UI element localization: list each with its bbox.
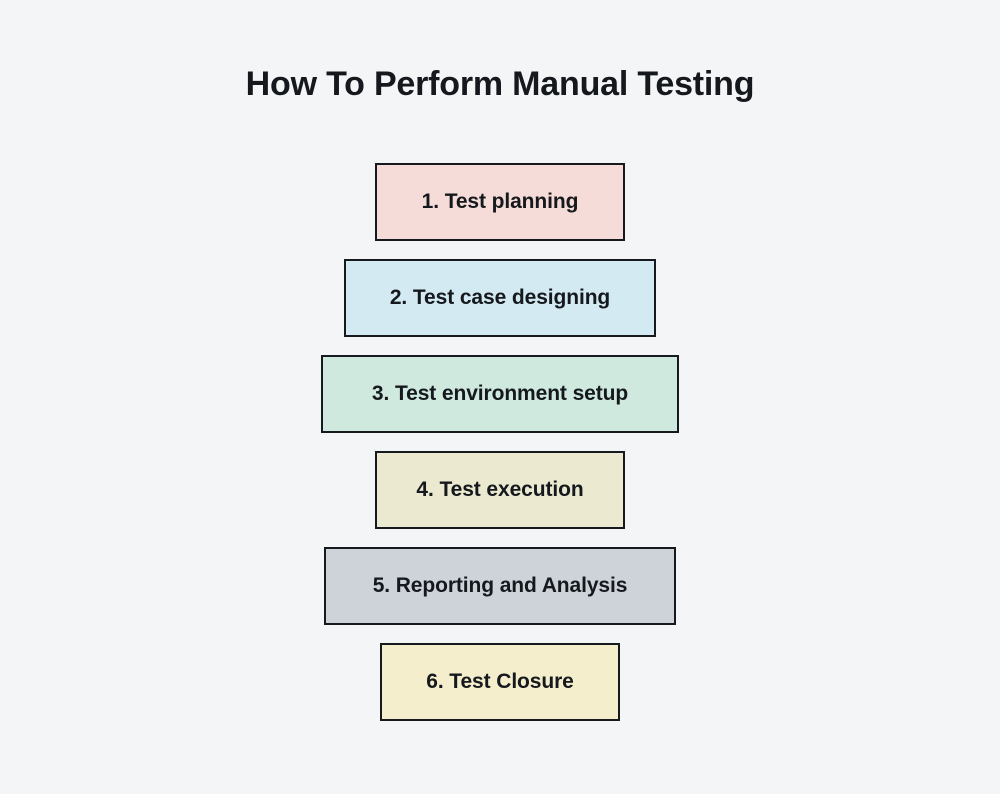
process-step-4[interactable]: 4. Test execution [375,451,625,529]
process-step-2[interactable]: 2. Test case designing [344,259,656,337]
page-title: How To Perform Manual Testing [0,64,1000,105]
process-step-6-label: 6. Test Closure [426,670,574,694]
process-step-4-label: 4. Test execution [416,478,583,502]
process-step-6[interactable]: 6. Test Closure [380,643,620,721]
process-step-5-label: 5. Reporting and Analysis [373,574,628,598]
process-step-3-label: 3. Test environment setup [372,382,628,406]
process-step-3[interactable]: 3. Test environment setup [321,355,679,433]
diagram-canvas: How To Perform Manual Testing 1. Test pl… [0,0,1000,794]
process-step-2-label: 2. Test case designing [390,286,610,310]
process-step-1-label: 1. Test planning [422,190,579,214]
process-step-5[interactable]: 5. Reporting and Analysis [324,547,676,625]
process-flow-list: 1. Test planning 2. Test case designing … [0,163,1000,721]
process-step-1[interactable]: 1. Test planning [375,163,625,241]
